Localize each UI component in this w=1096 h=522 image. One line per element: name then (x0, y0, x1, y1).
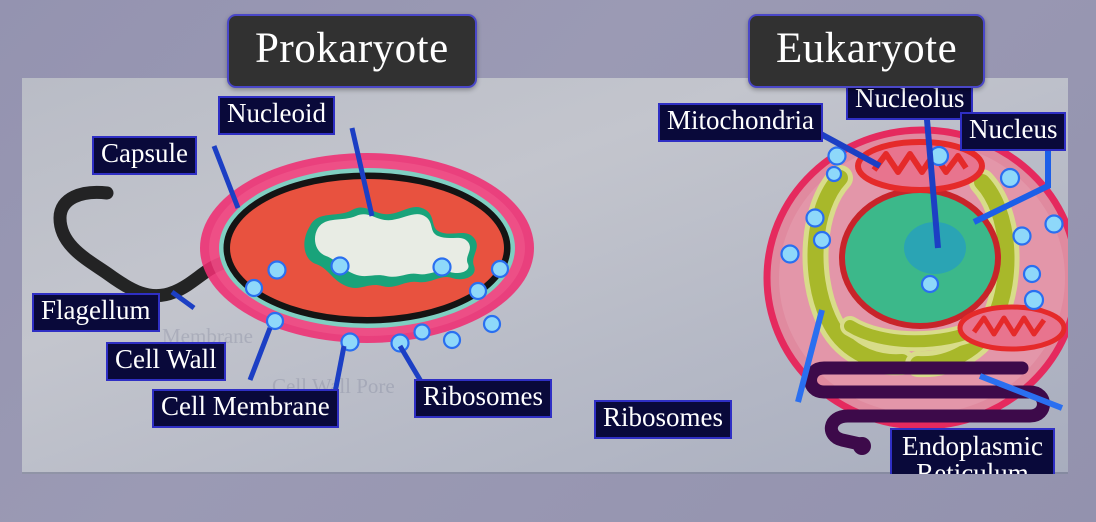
slide-panel: Membrane Cell Wall Pore (22, 78, 1068, 474)
label-endoplasmic-reticulum[interactable]: Endoplasmic Reticulum (890, 428, 1055, 474)
label-mitochondria[interactable]: Mitochondria (658, 103, 823, 142)
mitochondria-lower (960, 307, 1064, 349)
title-prokaryote: Prokaryote (227, 14, 477, 88)
label-capsule[interactable]: Capsule (92, 136, 197, 175)
nucleolus-shape (904, 222, 966, 274)
title-eukaryote: Eukaryote (748, 14, 985, 88)
label-nucleoid[interactable]: Nucleoid (218, 96, 335, 135)
label-flagellum[interactable]: Flagellum (32, 293, 160, 332)
label-cell-membrane[interactable]: Cell Membrane (152, 389, 339, 428)
label-ribosomes-prokaryote[interactable]: Ribosomes (414, 379, 552, 418)
eukaryote-cell (767, 130, 1068, 455)
label-cell-wall[interactable]: Cell Wall (106, 342, 226, 381)
label-nucleus[interactable]: Nucleus (960, 112, 1066, 151)
label-er-line1: Endoplasmic (902, 433, 1043, 460)
label-ribosomes-eukaryote[interactable]: Ribosomes (594, 400, 732, 439)
label-er-line2: Reticulum (902, 460, 1043, 474)
